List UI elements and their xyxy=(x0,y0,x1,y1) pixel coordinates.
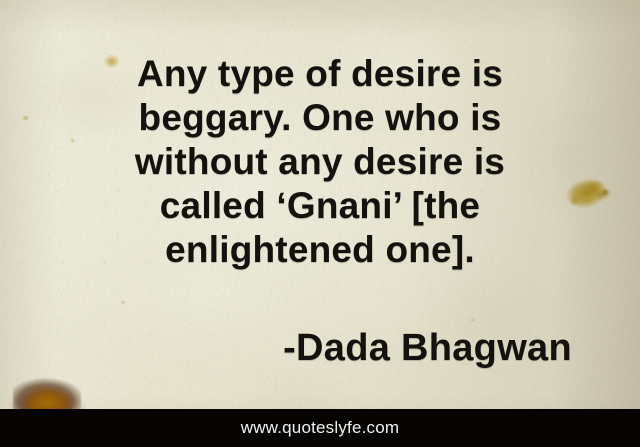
quote-card: Any type of desire is beggary. One who i… xyxy=(0,0,640,447)
quote-line-3: without any desire is xyxy=(30,140,610,184)
quote-text-block: Any type of desire is beggary. One who i… xyxy=(0,52,640,272)
watermark-url: www.quoteslyfe.com xyxy=(241,418,400,438)
quote-attribution: -Dada Bhagwan xyxy=(283,326,572,370)
watermark-bar: www.quoteslyfe.com xyxy=(0,409,640,447)
quote-line-4: called ‘Gnani’ [the xyxy=(30,184,610,228)
quote-line-2: beggary. One who is xyxy=(30,96,610,140)
quote-line-1: Any type of desire is xyxy=(30,52,610,96)
quote-line-5: enlightened one]. xyxy=(30,228,610,272)
